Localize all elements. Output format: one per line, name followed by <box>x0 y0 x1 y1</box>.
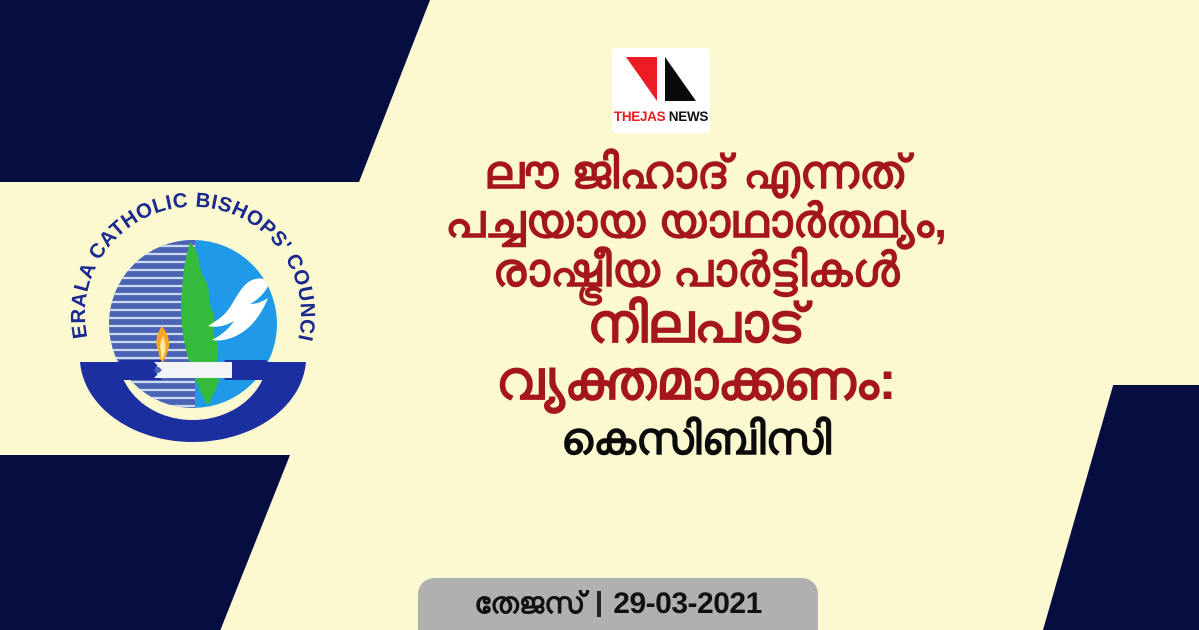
navy-shape-top-left <box>0 0 430 182</box>
thejas-wordmark: THEJAS NEWS <box>614 109 708 124</box>
black-triangle-icon <box>665 57 696 101</box>
kcbc-emblem-svg: KERALA CATHOLIC BISHOPS' COUNCIL <box>62 190 324 448</box>
thejas-word-thejas: THEJAS <box>614 109 665 124</box>
thejas-word-news: NEWS <box>665 109 708 124</box>
thejas-triangle-mark <box>626 57 696 101</box>
headline-line-4: നിലപാട് <box>396 295 996 352</box>
headline-source: കെസിബിസി <box>396 415 996 462</box>
footer-separator <box>597 591 601 617</box>
navy-shape-bottom-left <box>0 455 290 630</box>
headline-line-3: രാഷ്ട്രീയ പാർട്ടികൾ <box>396 246 996 295</box>
thejas-news-logo: THEJAS NEWS <box>612 48 710 133</box>
headline-line-5: വ്യക്തമാക്കണം: <box>396 352 996 409</box>
headline-line-2: പച്ചയായ യാഥാർത്ഥ്യം, <box>396 197 996 246</box>
news-graphic-card: THEJAS NEWS <box>0 0 1199 630</box>
red-triangle-icon <box>626 57 657 101</box>
headline-block: ലൗ ജിഹാദ് എന്നത് പച്ചയായ യാഥാർത്ഥ്യം, രാ… <box>396 148 996 462</box>
footer-date: 29-03-2021 <box>613 587 761 621</box>
headline-line-1: ലൗ ജിഹാദ് എന്നത് <box>396 148 996 197</box>
kcbc-logo: KERALA CATHOLIC BISHOPS' COUNCIL <box>62 190 324 448</box>
footer-brand-name: തേജസ് <box>474 587 585 621</box>
navy-shape-bottom-right <box>1043 385 1199 630</box>
footer-badge: തേജസ് 29-03-2021 <box>418 578 818 630</box>
